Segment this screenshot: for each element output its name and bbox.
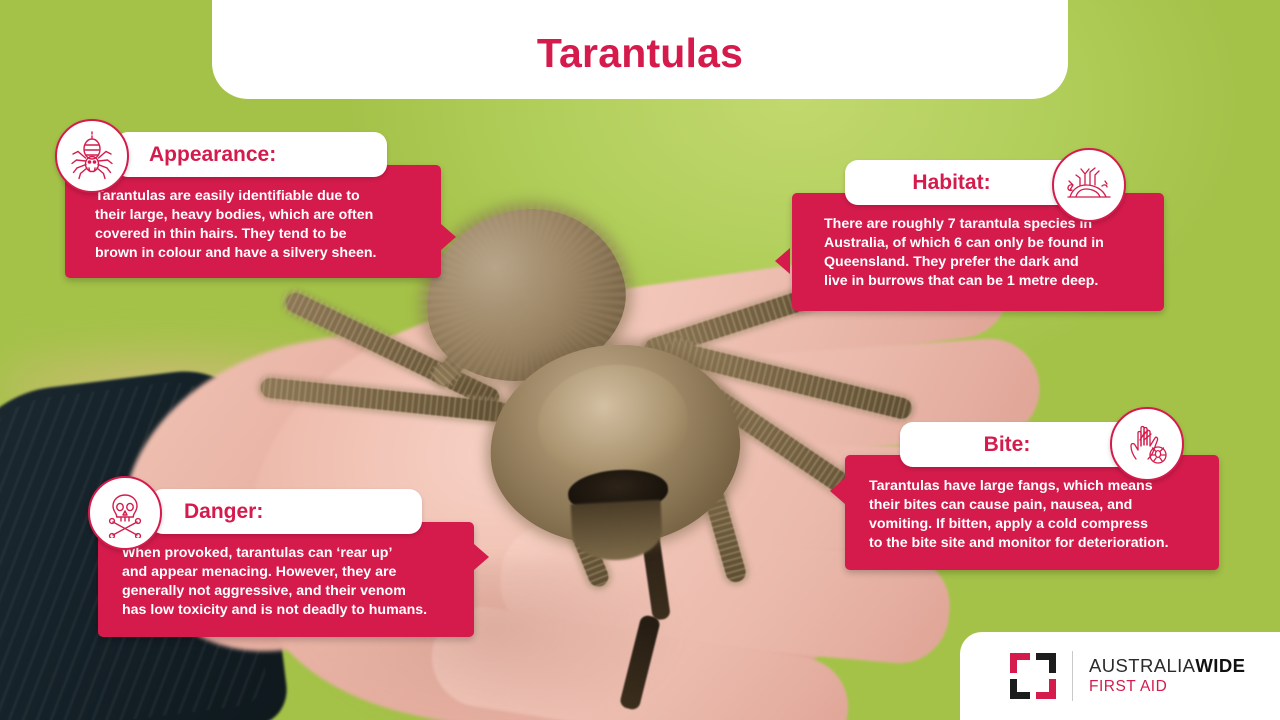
logo-name-bold: WIDE: [1195, 655, 1245, 676]
infographic-canvas: Tarantulas Appearance: Tarantulas are ea…: [0, 0, 1280, 720]
card-heading-danger: Danger:: [150, 489, 422, 534]
brand-logo-panel: AUSTRALIAWIDE FIRST AID: [960, 632, 1280, 720]
card-tail-habitat: [775, 248, 790, 274]
logo-divider: [1072, 651, 1073, 701]
info-card-bite: Bite: Tarantulas have large fangs, which…: [845, 410, 1245, 585]
card-tail-appearance: [441, 224, 456, 250]
spider-icon: [55, 119, 129, 193]
logo-line-2: FIRST AID: [1089, 677, 1245, 697]
info-card-danger: Danger: When provoked, tarantulas can ‘r…: [88, 472, 508, 647]
logo-quadrant-bottom-right: [1036, 679, 1056, 699]
card-body-danger: When provoked, tarantulas can ‘rear up’ …: [98, 522, 474, 637]
skull-crossbones-icon: [88, 476, 162, 550]
card-body-appearance: Tarantulas are easily identifiable due t…: [65, 165, 441, 278]
card-tail-bite: [830, 478, 845, 504]
logo-wordmark: AUSTRALIAWIDE FIRST AID: [1089, 655, 1245, 697]
title-banner: Tarantulas: [212, 0, 1068, 99]
logo-quadrant-bottom-left: [1010, 679, 1030, 699]
bitten-hand-icon: [1110, 407, 1184, 481]
page-title: Tarantulas: [537, 30, 743, 77]
info-card-appearance: Appearance: Tarantulas are easily identi…: [55, 112, 475, 292]
logo-name-primary: AUSTRALIA: [1089, 655, 1195, 676]
cross-logo-icon: [1010, 653, 1056, 699]
burrow-icon: [1052, 148, 1126, 222]
logo-line-1: AUSTRALIAWIDE: [1089, 655, 1245, 677]
card-heading-appearance: Appearance:: [115, 132, 387, 177]
logo-quadrant-top-right: [1036, 653, 1056, 673]
logo-quadrant-top-left: [1010, 653, 1030, 673]
info-card-habitat: Habitat: There are roughly 7 tarantula s…: [790, 148, 1190, 328]
card-tail-danger: [474, 544, 489, 570]
